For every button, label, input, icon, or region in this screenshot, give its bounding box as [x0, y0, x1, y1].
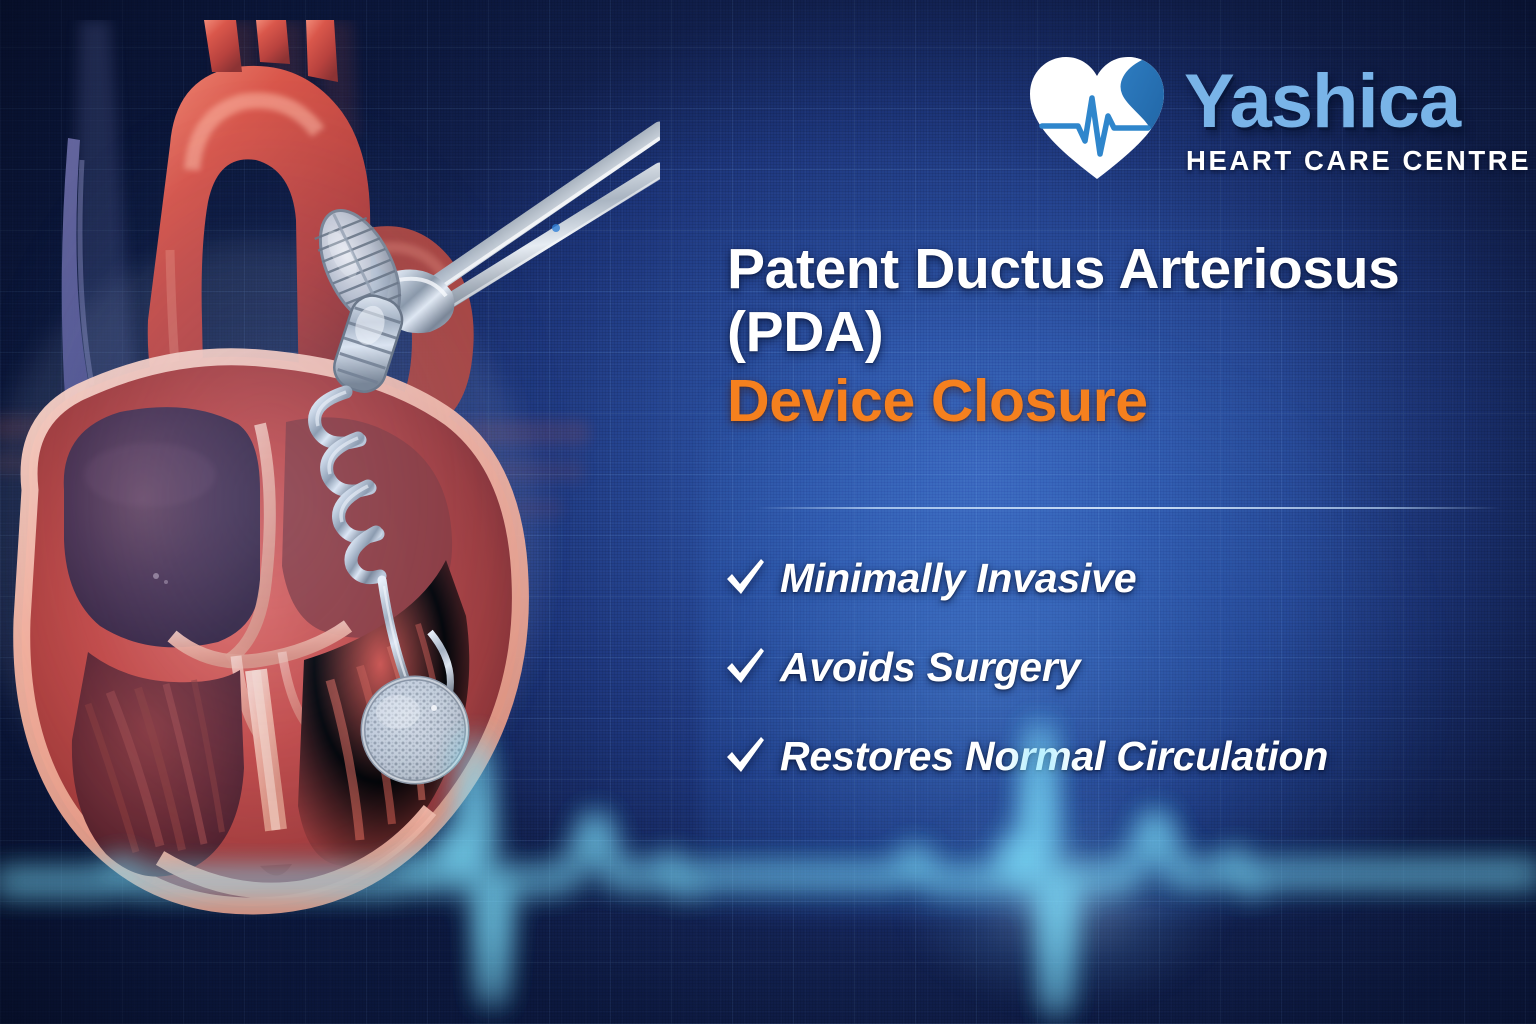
brand-name: Yashica [1184, 64, 1531, 140]
guide-sheath-1 [430, 130, 660, 288]
title-line-2: (PDA) [727, 301, 1487, 364]
list-item: Avoids Surgery [723, 642, 1483, 692]
title-accent-line: Device Closure [727, 368, 1487, 434]
title-divider [756, 507, 1501, 509]
left-subclavian [306, 20, 338, 82]
guide-sheath-2 [432, 170, 660, 312]
ecg-svg [0, 690, 1536, 1024]
heart-pulse-logo-icon [1022, 46, 1172, 188]
benefit-label: Avoids Surgery [780, 644, 1080, 691]
brand-logo[interactable]: Yashica HEART CARE CENTRE [1022, 46, 1531, 188]
benefit-label: Minimally Invasive [780, 555, 1136, 602]
page-title: Patent Ductus Arteriosus (PDA) Device Cl… [727, 238, 1487, 434]
poster-canvas: Yashica HEART CARE CENTRE Patent Ductus … [0, 0, 1536, 1024]
check-icon [723, 645, 768, 690]
title-line-1: Patent Ductus Arteriosus [727, 238, 1487, 301]
ecg-heartbeat-waveform [0, 690, 1536, 1024]
left-atrium [64, 407, 260, 647]
brachiocephalic-trunk [204, 20, 242, 72]
check-icon [723, 556, 768, 601]
list-item: Minimally Invasive [723, 553, 1483, 603]
left-carotid [256, 20, 290, 64]
brand-tagline: HEART CARE CENTRE [1186, 147, 1531, 175]
brand-text: Yashica HEART CARE CENTRE [1184, 60, 1531, 175]
